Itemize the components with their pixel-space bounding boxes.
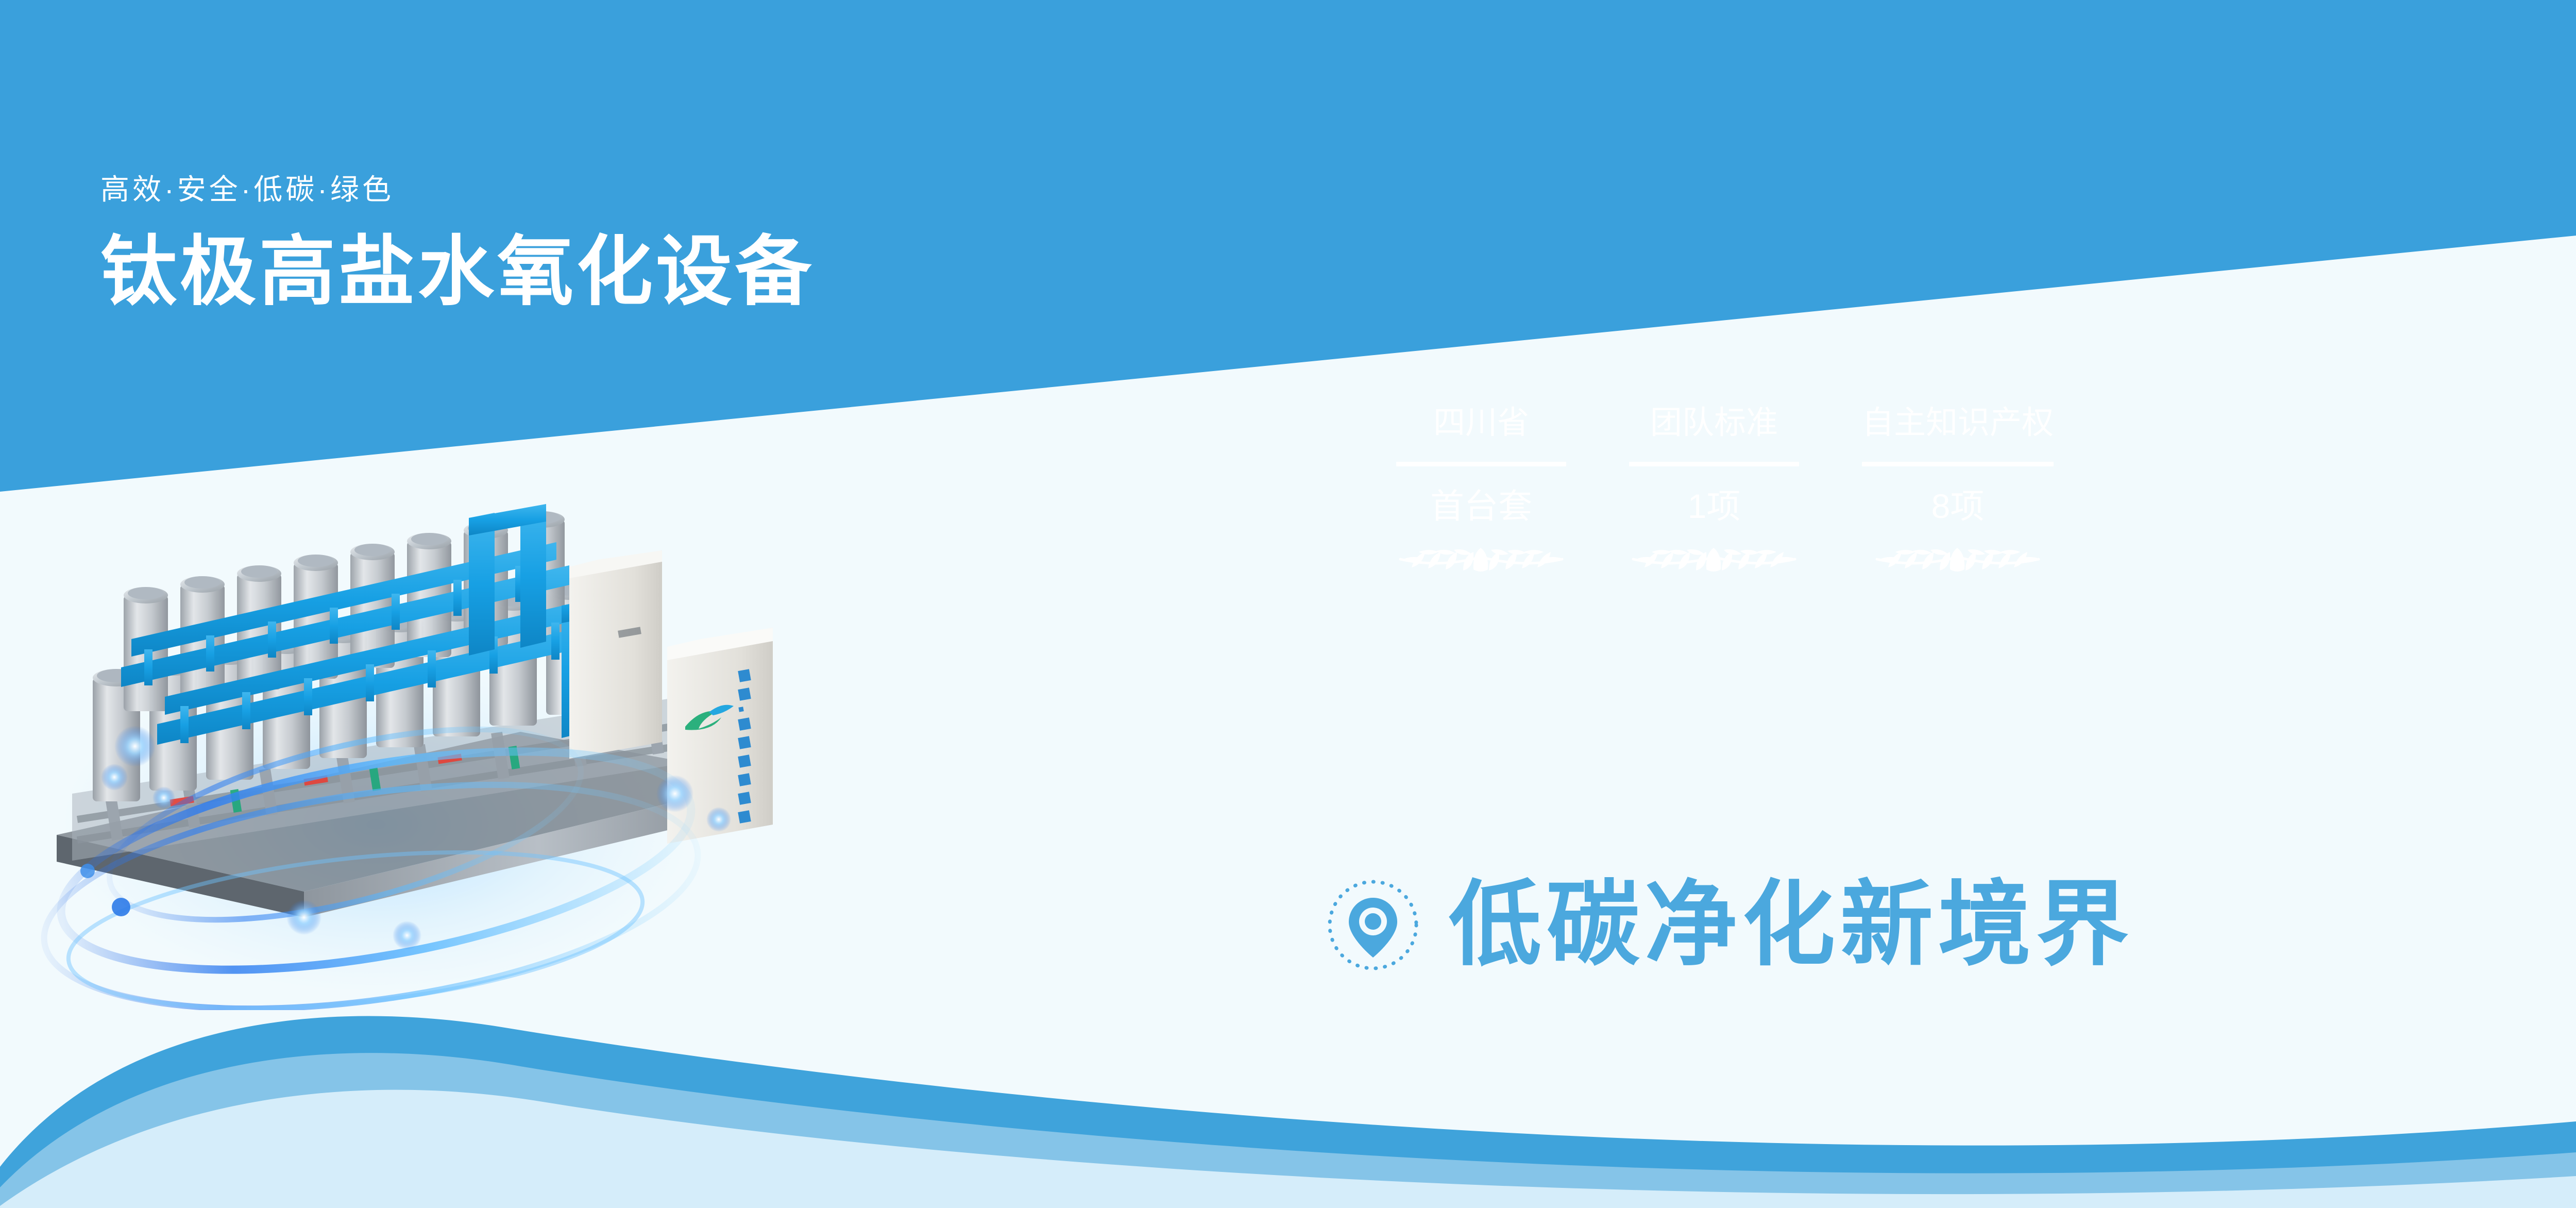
- stat-value: 8项: [1931, 489, 1985, 523]
- stat-value: 1项: [1688, 489, 1741, 523]
- laurel-ornament-icon: [1873, 542, 2043, 574]
- stat-label: 团队标准: [1650, 407, 1778, 439]
- laurel-ornament-icon: [1629, 542, 1799, 574]
- stat-divider: [1396, 462, 1566, 466]
- stats-row: 四川省 首台套: [1396, 407, 2054, 574]
- stat-label: 自主知识产权: [1862, 407, 2054, 439]
- stat-divider: [1629, 462, 1799, 466]
- location-pin-icon: [1324, 876, 1422, 974]
- hero-copy: 高效·安全·低碳·绿色 钛极高盐水氧化设备: [100, 175, 815, 310]
- stat-block-sichuan: 四川省 首台套: [1396, 407, 1566, 574]
- stat-divider: [1862, 462, 2054, 466]
- stat-label: 四川省: [1433, 407, 1529, 439]
- cabinet-vertical-label: [738, 669, 751, 823]
- laurel-ornament-icon: [1396, 542, 1566, 574]
- hero-headline: 钛极高盐水氧化设备: [100, 234, 815, 310]
- stat-block-ip: 自主知识产权 8项: [1862, 407, 2054, 574]
- tagline: 低碳净化新境界: [1324, 876, 2134, 974]
- stat-block-team-standard: 团队标准 1项: [1629, 407, 1799, 574]
- banner-stage: 高效·安全·低碳·绿色 钛极高盐水氧化设备 四川省 首台套: [0, 0, 2576, 1208]
- hero-eyebrow: 高效·安全·低碳·绿色: [100, 175, 815, 204]
- bottom-waves: [0, 919, 2576, 1208]
- tagline-text: 低碳净化新境界: [1449, 879, 2134, 971]
- control-cabinet-rear: [569, 550, 662, 759]
- stat-value: 首台套: [1430, 489, 1532, 523]
